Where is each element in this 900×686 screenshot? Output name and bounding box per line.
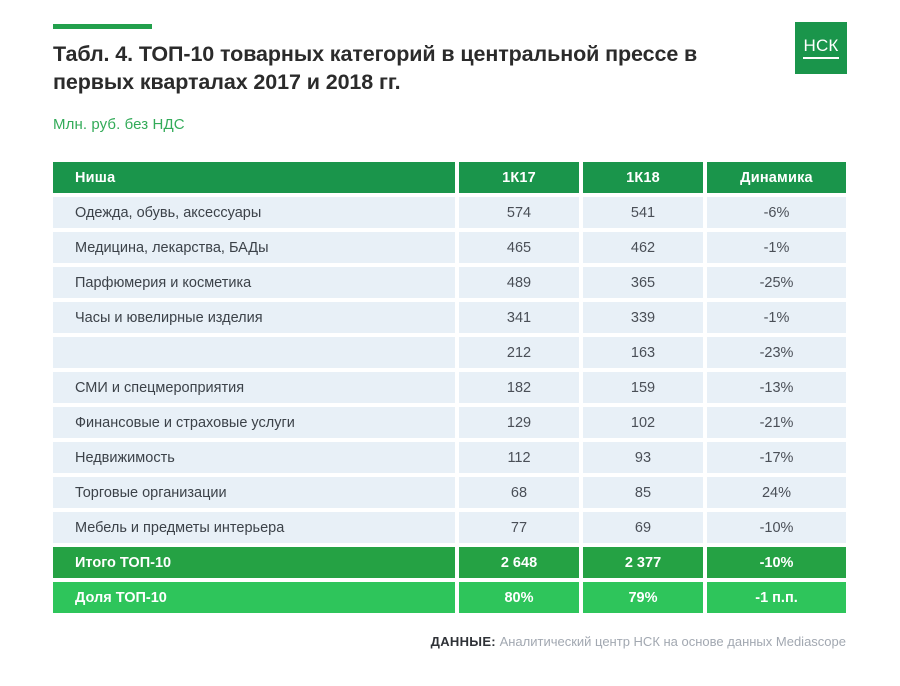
cell-dynamics: 24% <box>707 477 846 508</box>
cell-q118: 462 <box>583 232 703 263</box>
cell-q118: 85 <box>583 477 703 508</box>
table-row: Финансовые и страховые услуги 129 102 -2… <box>53 407 846 438</box>
cell-dynamics: -6% <box>707 197 846 228</box>
table-row: Медицина, лекарства, БАДы 465 462 -1% <box>53 232 846 263</box>
column-header-q117: 1К17 <box>459 162 579 193</box>
table-total-row: Итого ТОП-10 2 648 2 377 -10% <box>53 547 846 578</box>
cell-q118: 339 <box>583 302 703 333</box>
accent-bar <box>53 24 152 29</box>
cell-q117: 574 <box>459 197 579 228</box>
cell-name: Мебель и предметы интерьера <box>53 512 455 543</box>
cell-name: Финансовые и страховые услуги <box>53 407 455 438</box>
cell-q118: 541 <box>583 197 703 228</box>
cell-name: СМИ и спецмероприятия <box>53 372 455 403</box>
cell-q118: 163 <box>583 337 703 368</box>
cell-q118: 365 <box>583 267 703 298</box>
cell-dynamics: -23% <box>707 337 846 368</box>
cell-q118: 159 <box>583 372 703 403</box>
cell-total-q117: 2 648 <box>459 547 579 578</box>
table-row: СМИ и спецмероприятия 182 159 -13% <box>53 372 846 403</box>
cell-q117: 129 <box>459 407 579 438</box>
cell-total-name: Итого ТОП-10 <box>53 547 455 578</box>
page-title: Табл. 4. ТОП-10 товарных категорий в цен… <box>53 40 703 97</box>
cell-dynamics: -13% <box>707 372 846 403</box>
cell-name: Одежда, обувь, аксессуары <box>53 197 455 228</box>
cell-q117: 77 <box>459 512 579 543</box>
cell-q118: 93 <box>583 442 703 473</box>
logo-text: НСК <box>803 37 838 54</box>
table-row: Недвижимость 112 93 -17% <box>53 442 846 473</box>
cell-dynamics: -1% <box>707 232 846 263</box>
column-header-dynamics: Динамика <box>707 162 846 193</box>
cell-total-q118: 2 377 <box>583 547 703 578</box>
nsk-logo: НСК <box>795 22 847 74</box>
source-label: ДАННЫЕ: <box>431 634 496 649</box>
cell-q117: 112 <box>459 442 579 473</box>
cell-name: Недвижимость <box>53 442 455 473</box>
cell-q117: 489 <box>459 267 579 298</box>
cell-q117: 465 <box>459 232 579 263</box>
cell-dynamics: -25% <box>707 267 846 298</box>
cell-name: Медицина, лекарства, БАДы <box>53 232 455 263</box>
table-row: 212 163 -23% <box>53 337 846 368</box>
cell-q117: 212 <box>459 337 579 368</box>
data-table: Ниша 1К17 1К18 Динамика Одежда, обувь, а… <box>53 162 846 617</box>
source-text: Аналитический центр НСК на основе данных… <box>500 634 846 649</box>
cell-dynamics: -10% <box>707 512 846 543</box>
table-row: Парфюмерия и косметика 489 365 -25% <box>53 267 846 298</box>
cell-q117: 68 <box>459 477 579 508</box>
table-row: Торговые организации 68 85 24% <box>53 477 846 508</box>
cell-total-dynamics: -10% <box>707 547 846 578</box>
table-row: Мебель и предметы интерьера 77 69 -10% <box>53 512 846 543</box>
cell-q118: 69 <box>583 512 703 543</box>
cell-q118: 102 <box>583 407 703 438</box>
cell-dynamics: -21% <box>707 407 846 438</box>
table-row: Одежда, обувь, аксессуары 574 541 -6% <box>53 197 846 228</box>
cell-share-q118: 79% <box>583 582 703 613</box>
cell-dynamics: -17% <box>707 442 846 473</box>
source-note: ДАННЫЕ: Аналитический центр НСК на основ… <box>431 634 846 649</box>
table-header-row: Ниша 1К17 1К18 Динамика <box>53 162 846 193</box>
cell-name: Часы и ювелирные изделия <box>53 302 455 333</box>
cell-dynamics: -1% <box>707 302 846 333</box>
cell-share-dynamics: -1 п.п. <box>707 582 846 613</box>
logo-underline <box>803 57 839 60</box>
infographic-table-page: НСК Табл. 4. ТОП-10 товарных категорий в… <box>0 0 900 686</box>
column-header-q118: 1К18 <box>583 162 703 193</box>
table-row: Часы и ювелирные изделия 341 339 -1% <box>53 302 846 333</box>
cell-name: Парфюмерия и косметика <box>53 267 455 298</box>
cell-name: Торговые организации <box>53 477 455 508</box>
cell-share-name: Доля ТОП-10 <box>53 582 455 613</box>
table-share-row: Доля ТОП-10 80% 79% -1 п.п. <box>53 582 846 613</box>
cell-q117: 341 <box>459 302 579 333</box>
page-subtitle: Млн. руб. без НДС <box>53 116 185 133</box>
cell-share-q117: 80% <box>459 582 579 613</box>
cell-q117: 182 <box>459 372 579 403</box>
column-header-niche: Ниша <box>53 162 455 193</box>
cell-name <box>53 337 455 368</box>
